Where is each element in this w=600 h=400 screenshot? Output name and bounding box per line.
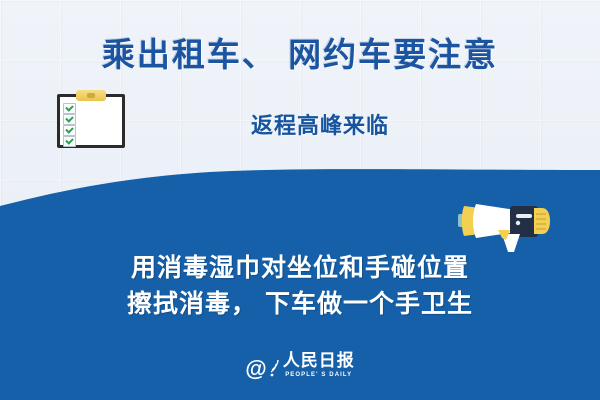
logo-text-group: 人民日报 PEOPLE' S DAILY (283, 352, 355, 379)
at-sign-icon: @ (245, 358, 266, 380)
logo-english-name: PEOPLE' S DAILY (285, 371, 352, 379)
checklist-row (63, 125, 119, 135)
message-line-2: 擦拭消毒， 下车做一个手卫生 (0, 286, 600, 322)
megaphone-icon (458, 190, 550, 252)
message-line-1: 用消毒湿巾对坐位和手碰位置 (0, 250, 600, 286)
logo-chinese-name: 人民日报 (283, 352, 355, 370)
main-message: 用消毒湿巾对坐位和手碰位置 擦拭消毒， 下车做一个手卫生 (0, 250, 600, 322)
check-icon (63, 114, 76, 125)
clipboard-clip (76, 90, 106, 101)
checklist-row (63, 136, 119, 146)
clipboard-rows (63, 103, 119, 147)
subtitle: 返程高峰来临 (150, 108, 490, 140)
check-icon (63, 136, 76, 147)
peoples-daily-logo: @ 人民日报 PEOPLE' S DAILY (0, 352, 600, 379)
check-icon (63, 125, 76, 136)
clipboard-checklist-icon (57, 90, 125, 148)
megaphone-shape (458, 190, 550, 252)
wifi-wave-icon (270, 359, 280, 379)
poster-image: 乘出租车、 网约车要注意 (0, 0, 600, 400)
checklist-row (63, 103, 119, 113)
check-icon (63, 103, 76, 114)
checklist-row (63, 114, 119, 124)
page-title: 乘出租车、 网约车要注意 (0, 28, 600, 76)
